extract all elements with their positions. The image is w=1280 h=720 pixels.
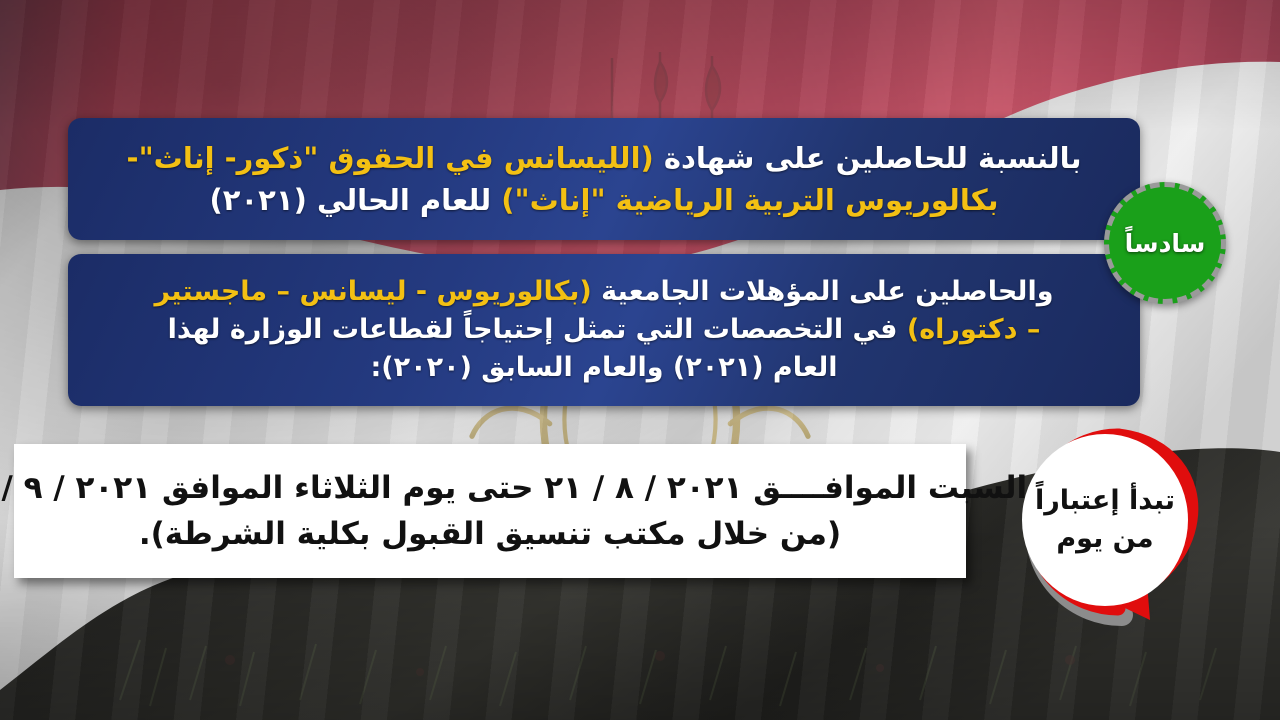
box-two-line-1: والحاصلين على المؤهلات الجامعية (بكالوري… [88,273,1120,311]
start-callout-body: تبدأ إعتباراً من يوم [1022,434,1188,606]
box-two-line2-text-white: في التخصصات التي تمثل إحتياجاً لقطاعات ا… [168,314,907,345]
box-one-line2-text-highlight: بكالوريوس التربية الرياضية "إناث") [501,183,998,217]
box-one-line1-text-highlight: (الليسانس في الحقوق "ذكور- إناث"- [127,141,654,175]
box-two-line1-text-white: والحاصلين على المؤهلات الجامعية [592,276,1054,307]
section-number-badge-sixth: سادساً [1104,182,1226,304]
box-two-line3-text-white: العام (٢٠٢١) والعام السابق (٢٠٢٠): [371,352,838,383]
start-callout-line-1: تبدأ إعتباراً [1035,485,1175,517]
qualification-box-one: بالنسبة للحاصلين على شهادة (الليسانس في … [68,118,1140,240]
start-date-callout: تبدأ إعتباراً من يوم [1000,420,1214,634]
sixth-badge-label: سادساً [1125,229,1206,258]
poster-canvas: بالنسبة للحاصلين على شهادة (الليسانس في … [0,0,1280,720]
box-one-line2-text-white: للعام الحالي (٢٠٢١) [210,183,502,217]
box-two-line-2: – دكتوراه) في التخصصات التي تمثل إحتياجا… [88,311,1120,349]
start-callout-line-2: من يوم [1056,523,1153,555]
box-two-line1-text-highlight: (بكالوريوس - ليسانس – ماجستير [155,276,592,307]
box-one-line-2: بكالوريوس التربية الرياضية "إناث") للعام… [88,179,1120,221]
box-two-line2-text-highlight: – دكتوراه) [907,314,1040,345]
qualification-box-two: والحاصلين على المؤهلات الجامعية (بكالوري… [68,254,1140,406]
box-one-line1-text-white: بالنسبة للحاصلين على شهادة [654,141,1082,175]
application-period-line-2: (من خلال مكتب تنسيق القبول بكلية الشرطة)… [139,511,841,558]
application-period-box: السبت الموافــــق ٢٠٢١ / ٨ / ٢١ حتى يوم … [14,444,966,578]
box-one-line-1: بالنسبة للحاصلين على شهادة (الليسانس في … [88,137,1120,179]
box-two-line-3: العام (٢٠٢١) والعام السابق (٢٠٢٠): [88,349,1120,387]
application-period-line-1: السبت الموافــــق ٢٠٢١ / ٨ / ٢١ حتى يوم … [0,465,1027,512]
